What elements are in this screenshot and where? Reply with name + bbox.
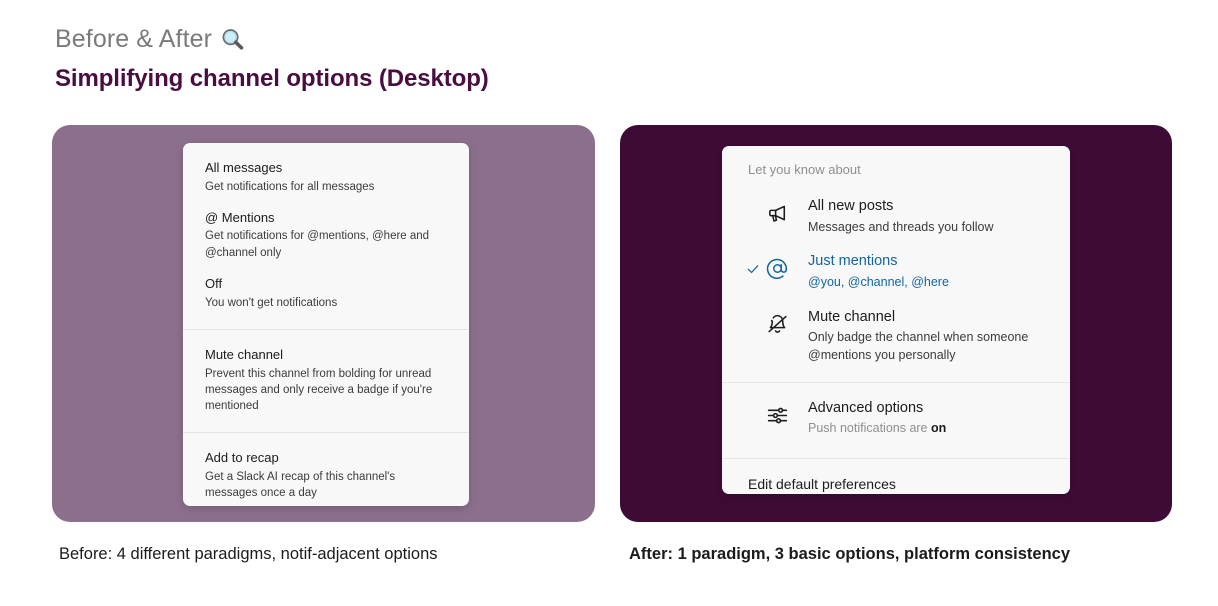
eyebrow-label: Before & After: [55, 24, 212, 54]
before-menu-group-mute: Mute channel Prevent this channel from b…: [183, 329, 469, 433]
menu-item-mute-channel[interactable]: Mute channel Prevent this channel from b…: [183, 340, 469, 423]
menu-item-title: Add to recap: [205, 449, 447, 467]
menu-item-title: All new posts: [808, 197, 994, 217]
menu-item-description: Get notifications for @mentions, @here a…: [205, 228, 443, 261]
menu-item-description: Messages and threads you follow: [808, 219, 994, 237]
before-panel: All messages Get notifications for all m…: [52, 125, 595, 522]
menu-item-edit-default-preferences[interactable]: Edit default preferences: [722, 459, 1070, 494]
menu-item-icon-slot: [734, 399, 790, 428]
menu-item-icon-slot: [734, 252, 790, 281]
menu-item-add-to-recap[interactable]: Add to recap Get a Slack AI recap of thi…: [183, 443, 469, 506]
menu-item-title: Off: [205, 275, 447, 293]
menu-item-description: Prevent this channel from bolding for un…: [205, 366, 443, 415]
menu-item-description: You won't get notifications: [205, 295, 443, 311]
before-menu-card: All messages Get notifications for all m…: [183, 143, 469, 506]
bell-muted-icon: [765, 312, 790, 337]
menu-item-all-new-posts[interactable]: All new posts Messages and threads you f…: [722, 190, 1070, 245]
before-menu-group-notifications: All messages Get notifications for all m…: [183, 143, 469, 329]
menu-item-just-mentions[interactable]: Just mentions @you, @channel, @here: [722, 245, 1070, 300]
page-header: Before & After Simplifying channel optio…: [55, 24, 489, 93]
menu-item-description: Only badge the channel when someone @men…: [808, 329, 1048, 365]
megaphone-icon: [765, 201, 790, 226]
menu-item-icon-slot: [734, 197, 790, 226]
after-panel: Let you know about All: [620, 125, 1172, 522]
menu-item-body: Advanced options Push notifications are …: [790, 399, 946, 438]
menu-item-body: All new posts Messages and threads you f…: [790, 197, 994, 236]
menu-item-icon-slot: [734, 308, 790, 337]
menu-item-title: Just mentions: [808, 252, 949, 272]
menu-item-title: Mute channel: [808, 308, 1048, 328]
menu-item-title: @ Mentions: [205, 209, 447, 227]
at-sign-icon: [765, 256, 790, 281]
menu-item-description: @you, @channel, @here: [808, 274, 949, 292]
section-header-let-you-know-about: Let you know about: [722, 146, 1070, 186]
after-menu-group-advanced: Advanced options Push notifications are …: [722, 382, 1070, 458]
check-icon: [746, 262, 760, 276]
before-menu-group-recap: Add to recap Get a Slack AI recap of thi…: [183, 432, 469, 506]
after-menu-group-main: Let you know about All: [722, 146, 1070, 382]
menu-item-description: Get a Slack AI recap of this channel's m…: [205, 469, 443, 502]
advanced-desc-prefix: Push notifications are: [808, 421, 931, 435]
menu-item-title: All messages: [205, 159, 447, 177]
menu-item-description: Get notifications for all messages: [205, 179, 443, 195]
menu-item-body: Mute channel Only badge the channel when…: [790, 308, 1048, 365]
menu-item-title: Mute channel: [205, 346, 447, 364]
after-menu-group-footer: Edit default preferences: [722, 458, 1070, 494]
sliders-icon: [765, 403, 790, 428]
menu-item-title: Advanced options: [808, 399, 946, 419]
after-caption: After: 1 paradigm, 3 basic options, plat…: [629, 545, 1070, 564]
menu-item-mentions[interactable]: @ Mentions Get notifications for @mentio…: [183, 203, 469, 269]
eyebrow: Before & After: [55, 24, 489, 54]
page-title: Simplifying channel options (Desktop): [55, 65, 489, 93]
advanced-desc-value: on: [931, 421, 946, 435]
menu-item-body: Just mentions @you, @channel, @here: [790, 252, 949, 291]
menu-item-advanced-options[interactable]: Advanced options Push notifications are …: [722, 392, 1070, 447]
menu-item-all-messages[interactable]: All messages Get notifications for all m…: [183, 153, 469, 203]
menu-item-description: Push notifications are on: [808, 420, 946, 438]
after-menu-card: Let you know about All: [722, 146, 1070, 494]
magnifying-glass-icon: [220, 27, 245, 52]
before-caption: Before: 4 different paradigms, notif-adj…: [59, 545, 438, 564]
menu-item-mute-channel[interactable]: Mute channel Only badge the channel when…: [722, 301, 1070, 374]
menu-item-off[interactable]: Off You won't get notifications: [183, 269, 469, 319]
